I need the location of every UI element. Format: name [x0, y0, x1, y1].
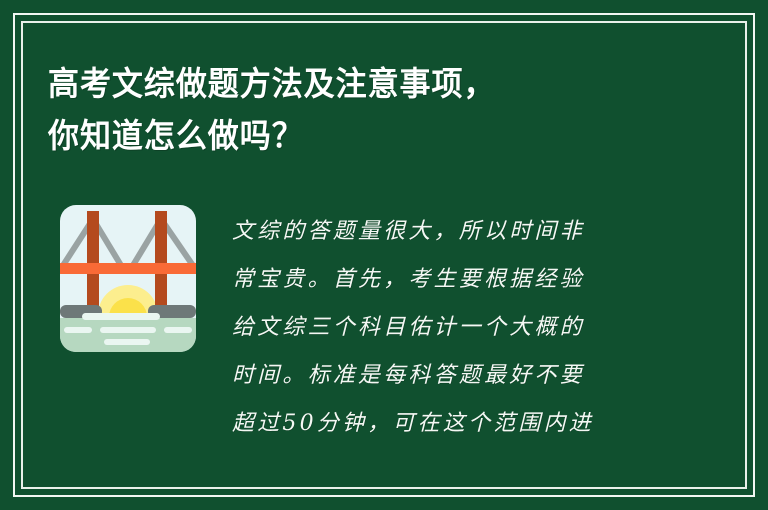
water-shape: [60, 318, 196, 352]
bridge-sunset-svg: [60, 205, 196, 352]
title-line-2: 你知道怎么做吗？: [48, 110, 612, 162]
poster-canvas: 高考文综做题方法及注意事项， 你知道怎么做吗？: [0, 0, 768, 510]
page-title: 高考文综做题方法及注意事项， 你知道怎么做吗？: [48, 58, 648, 162]
body-line: 常宝贵。首先，考生要根据经验: [232, 256, 652, 304]
bridge-deck: [60, 263, 196, 274]
body-line: 给文综三个科目佑计一个大概的: [232, 304, 652, 352]
title-line-1: 高考文综做题方法及注意事项，: [48, 58, 612, 110]
body-line: 超过50分钟，可在这个范围内进: [232, 400, 652, 448]
body-copy: 文综的答题量很大，所以时间非 常宝贵。首先，考生要根据经验 给文综三个科目佑计一…: [232, 208, 652, 448]
body-line: 文综的答题量很大，所以时间非: [232, 208, 652, 256]
body-line: 时间。标准是每科答题最好不要: [232, 352, 652, 400]
bridge-sunset-illustration: [60, 205, 196, 352]
